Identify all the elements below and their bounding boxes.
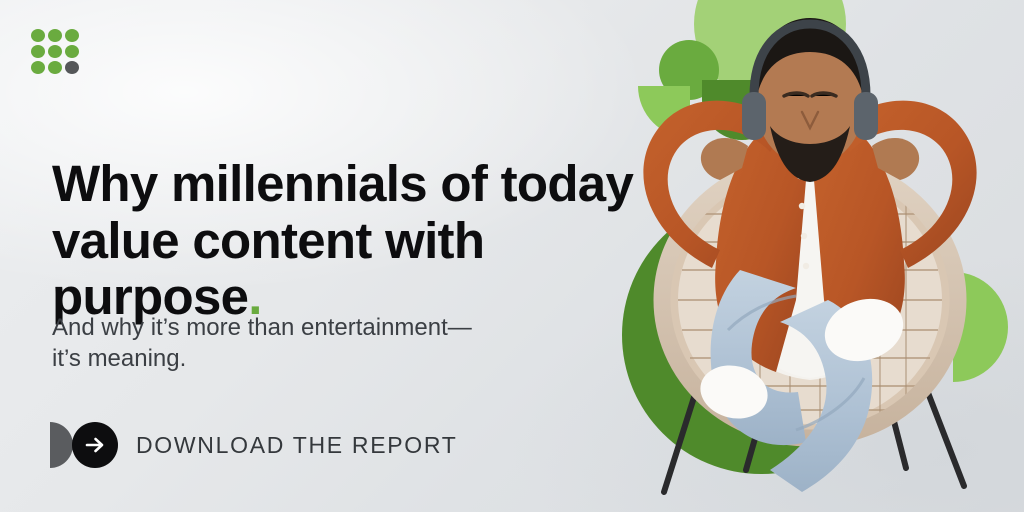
cta-label: DOWNLOAD THE REPORT <box>136 432 458 459</box>
logo-dot-9 <box>65 61 79 74</box>
headline-text: Why millennials of today value content w… <box>52 155 633 325</box>
logo-dot-3 <box>65 29 79 42</box>
logo-dot-1 <box>31 29 45 42</box>
logo-dot-7 <box>31 61 45 74</box>
subject-photo <box>620 0 1024 512</box>
arrow-right-icon <box>72 422 118 468</box>
promo-banner: Why millennials of today value content w… <box>0 0 1024 512</box>
brand-logo[interactable] <box>31 29 79 74</box>
cta-mark <box>50 422 122 468</box>
hero-visual <box>620 0 1024 512</box>
page-title: Why millennials of today value content w… <box>52 156 652 326</box>
logo-dot-5 <box>48 45 62 58</box>
halfdisc-shape-icon <box>50 422 73 468</box>
page-subtitle: And why it’s more than entertainment— it… <box>52 312 627 374</box>
download-report-cta[interactable]: DOWNLOAD THE REPORT <box>50 420 458 470</box>
logo-dot-8 <box>48 61 62 74</box>
logo-dot-4 <box>31 45 45 58</box>
logo-dot-6 <box>65 45 79 58</box>
logo-dot-2 <box>48 29 62 42</box>
